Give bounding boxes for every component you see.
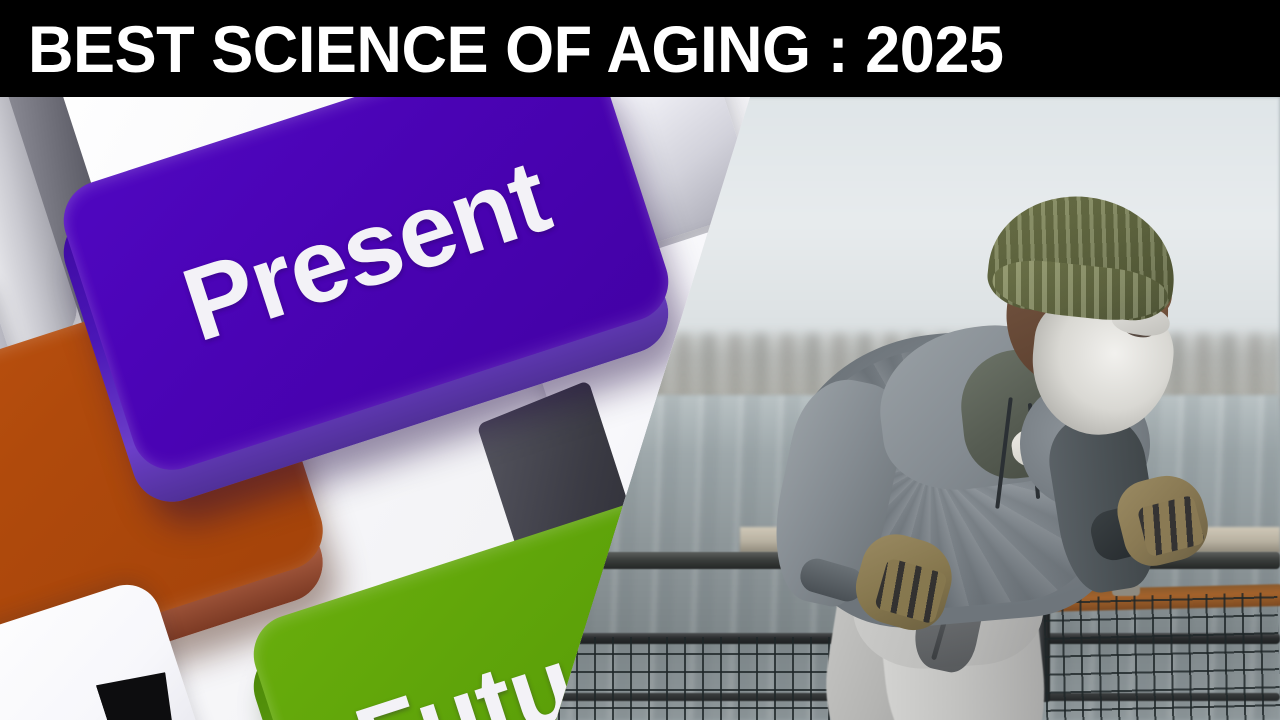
thumbnail-canvas: st Futu Present BEST SCIENCE OF AGING : … [0, 0, 1280, 720]
future-key-label: Futu [344, 631, 587, 720]
page-title: BEST SCIENCE OF AGING : 2025 [28, 16, 1003, 82]
present-key-label: Present [172, 144, 560, 359]
title-bar: BEST SCIENCE OF AGING : 2025 [0, 0, 1280, 97]
